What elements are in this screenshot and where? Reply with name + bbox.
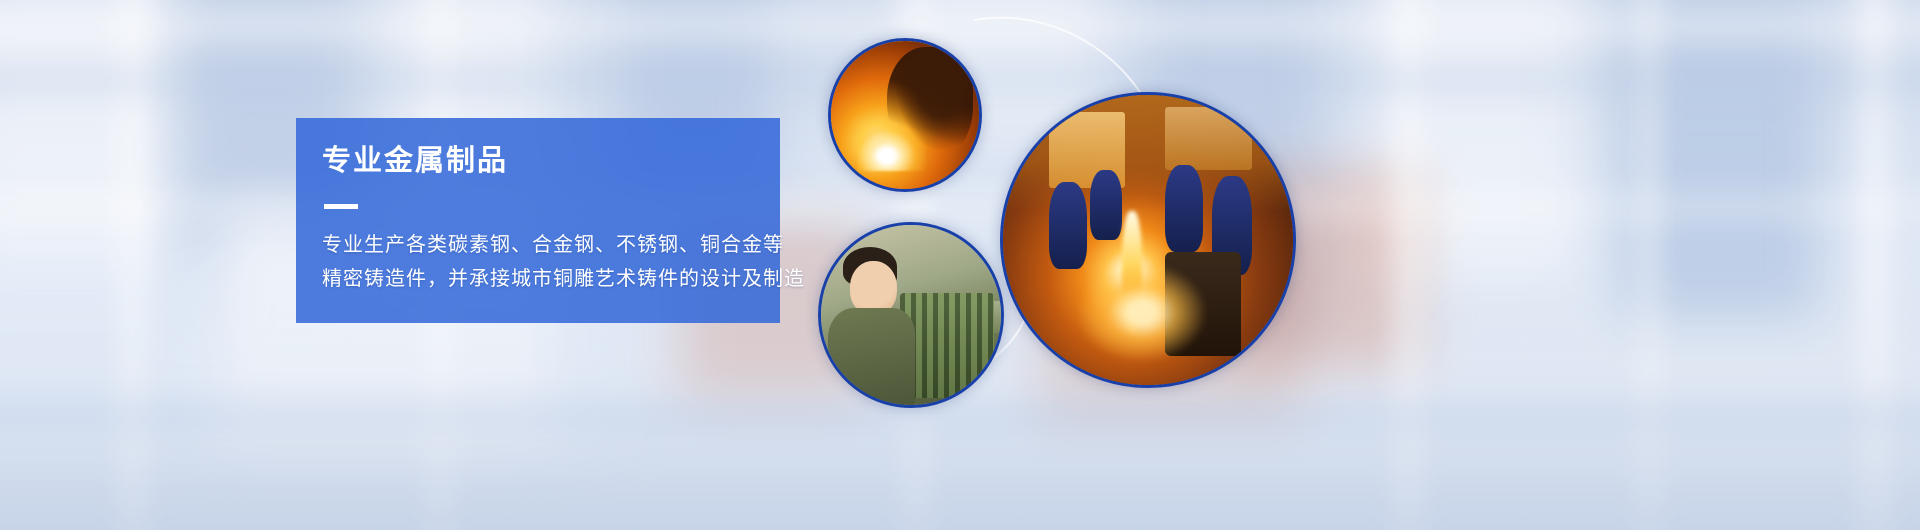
foundry-pour-photo xyxy=(1000,92,1296,388)
background-bottom-fade xyxy=(0,410,1920,530)
hero-description-line: 专业生产各类碳素钢、合金钢、不锈钢、铜合金等 xyxy=(322,228,962,262)
page-title: 专业金属制品 xyxy=(322,146,780,178)
hero-banner: 专业金属制品 专业生产各类碳素钢、合金钢、不锈钢、铜合金等 精密铸造件，并承接城… xyxy=(0,0,1920,530)
hero-description: 专业生产各类碳素钢、合金钢、不锈钢、铜合金等 精密铸造件，并承接城市铜雕艺术铸件… xyxy=(322,228,962,296)
title-divider xyxy=(324,204,358,209)
welding-photo xyxy=(828,38,982,192)
hero-description-line: 精密铸造件，并承接城市铜雕艺术铸件的设计及制造 xyxy=(322,262,962,296)
